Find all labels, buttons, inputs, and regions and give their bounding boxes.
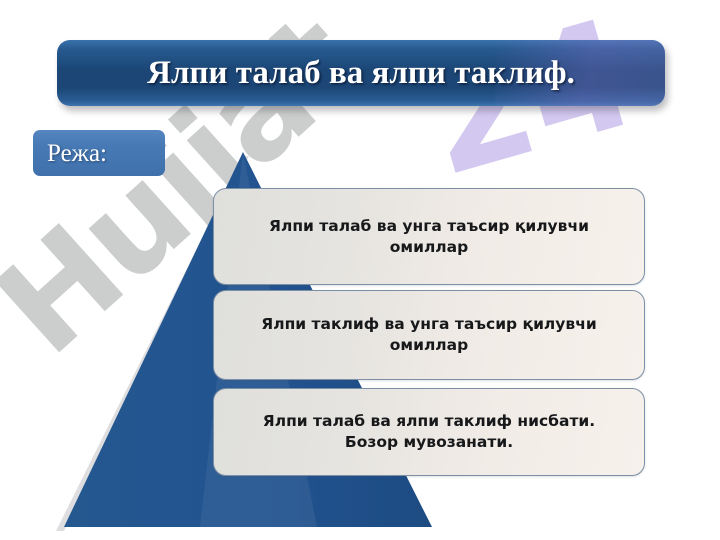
- page-title: Ялпи талаб ва ялпи таклиф.: [147, 57, 575, 90]
- plan-label-badge: Режа:: [33, 130, 165, 176]
- agenda-item-2[interactable]: Ялпи таклиф ва унга таъсир қилувчи омилл…: [213, 290, 645, 380]
- agenda-item-1-text: Ялпи талаб ва унга таъсир қилувчи омилла…: [255, 216, 603, 258]
- agenda-item-3-text: Ялпи талаб ва ялпи таклиф нисбати. Бозор…: [249, 411, 609, 453]
- agenda-item-3[interactable]: Ялпи талаб ва ялпи таклиф нисбати. Бозор…: [213, 388, 645, 476]
- plan-label-text: Режа:: [47, 141, 107, 166]
- slide-canvas: Hujjat 24 Ялпи талаб ва ялпи таклиф. Реж…: [0, 0, 720, 540]
- agenda-item-2-text: Ялпи таклиф ва унга таъсир қилувчи омилл…: [247, 314, 610, 356]
- slide-title-banner: Ялпи талаб ва ялпи таклиф.: [57, 40, 665, 106]
- agenda-item-1[interactable]: Ялпи талаб ва унга таъсир қилувчи омилла…: [213, 188, 645, 285]
